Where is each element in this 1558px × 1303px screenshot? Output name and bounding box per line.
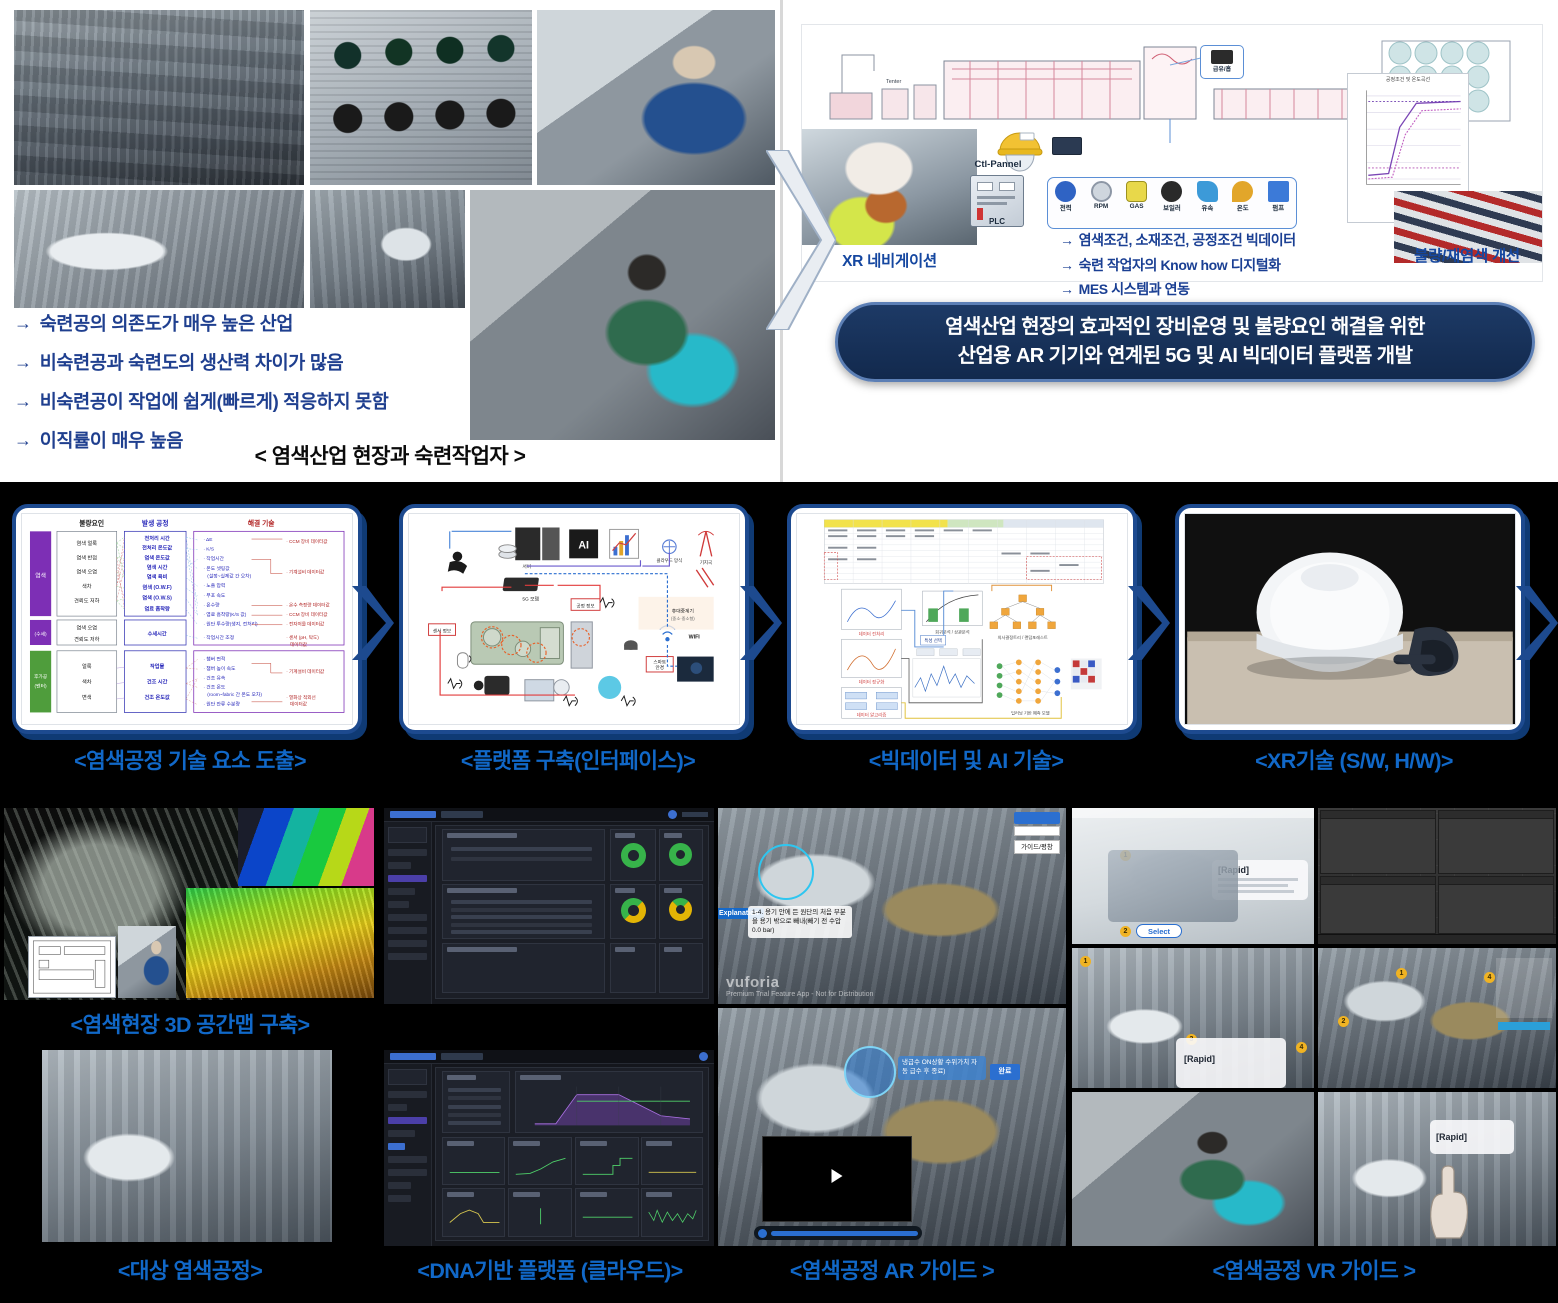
svg-text:· CCM 장비 데이터값: · CCM 장비 데이터값 bbox=[286, 611, 328, 618]
ar-valve-highlight-icon bbox=[844, 1046, 896, 1098]
svg-text:· 건조 온도: · 건조 온도 bbox=[203, 683, 226, 690]
svg-text:데이터값: 데이터값 bbox=[290, 641, 308, 648]
vr-pin-1[interactable]: 1 bbox=[1396, 968, 1407, 979]
arrow-marker-icon: → bbox=[1060, 233, 1074, 248]
floorplan-drawing bbox=[28, 936, 116, 998]
ar-media-controls[interactable] bbox=[754, 1226, 922, 1240]
pipeline-chevron-4-icon bbox=[1516, 586, 1558, 660]
svg-text:· 노즐 압력: · 노즐 압력 bbox=[203, 582, 225, 589]
svg-text:Tenter: Tenter bbox=[886, 79, 901, 85]
vr-pin-4[interactable]: 4 bbox=[1484, 972, 1495, 983]
brand-logo-secondary bbox=[441, 811, 483, 818]
svg-text:· 센서 (pH, 탁도): · 센서 (pH, 탁도) bbox=[286, 634, 319, 641]
power-sensor-icon bbox=[1055, 181, 1076, 202]
svg-text:공정 정보: 공정 정보 bbox=[576, 602, 594, 608]
svg-text:(설정~실제값 간 오차): (설정~실제값 간 오차) bbox=[207, 573, 251, 580]
sidebar-subitem[interactable] bbox=[388, 901, 409, 908]
sidebar-item[interactable] bbox=[388, 940, 427, 947]
problem-bullet: → 비숙련공과 숙련도의 생산력 차이가 많음 bbox=[14, 351, 484, 374]
card-platform-interface[interactable]: 서버 AI bbox=[399, 504, 749, 734]
widget-main-trend-chart[interactable] bbox=[515, 1071, 703, 1133]
svg-text:· 작업시간: · 작업시간 bbox=[203, 555, 224, 562]
svg-text:· 기계설비 데이터값: · 기계설비 데이터값 bbox=[286, 569, 325, 576]
blender-viewport-1[interactable] bbox=[1320, 810, 1436, 874]
sidebar-subitem[interactable] bbox=[388, 862, 411, 869]
sidebar-item[interactable] bbox=[388, 849, 427, 856]
sensor-label: 유속 bbox=[1192, 203, 1222, 212]
widget-donut-4[interactable] bbox=[659, 884, 703, 939]
svg-text:얼룩: 얼룩 bbox=[82, 662, 92, 670]
vr-pin-2[interactable]: 2 bbox=[1338, 1016, 1349, 1027]
svg-text:전처리 온도값: 전처리 온도값 bbox=[142, 544, 172, 552]
vr-field-view-2[interactable]: 1 2 4 bbox=[1318, 948, 1556, 1088]
sensor-label: 펌프 bbox=[1263, 203, 1293, 212]
smart-helmet-and-glasses-photo-icon bbox=[1185, 514, 1515, 724]
photo-dye-vessel bbox=[14, 190, 304, 308]
purpose-line-1: 염색산업 현장의 효과적인 장비운영 및 불량요인 해결을 위한 bbox=[945, 313, 1425, 342]
svg-text:색차: 색차 bbox=[82, 582, 92, 590]
svg-text:색차: 색차 bbox=[82, 678, 92, 686]
callout-label: 급유/흡 bbox=[1201, 64, 1243, 73]
blender-viewport-3[interactable] bbox=[1320, 876, 1436, 934]
svg-text:염색 반점: 염색 반점 bbox=[77, 553, 98, 561]
5g-platform-diagram: 서버 AI bbox=[409, 514, 739, 724]
svg-text:휴대중계기: 휴대중계기 bbox=[672, 607, 694, 614]
temperature-sensor-icon bbox=[1232, 181, 1253, 202]
widget-empty-3[interactable] bbox=[659, 943, 703, 993]
caption-3d-spatial-map: <염색현장 3D 공간맵 구축> bbox=[0, 1008, 380, 1039]
card-process-elements[interactable]: 불량요인 발생 공정 해결 기술 염색 (수세) 후가공 (텐터) bbox=[12, 504, 362, 734]
record-icon[interactable] bbox=[758, 1229, 767, 1238]
sensor-icon-row: 전력 RPM GAS 보일러 유속 온도 bbox=[1047, 177, 1297, 229]
widget-mini-chart-3[interactable] bbox=[575, 1137, 639, 1185]
card-caption-xr-tech: <XR기술 (S/W, H/W)> bbox=[1164, 744, 1544, 775]
vr-side-panel[interactable] bbox=[1496, 958, 1552, 1018]
brand-logo-secondary bbox=[441, 1053, 483, 1060]
sidebar-item-active[interactable] bbox=[388, 875, 427, 882]
sidebar-subitem[interactable] bbox=[388, 1195, 411, 1202]
vr-info-card: [Rapid] bbox=[1176, 1038, 1286, 1088]
dashboard-content bbox=[435, 825, 709, 999]
caption-dna-platform: <DNA기반 플랫폼 (클라우드)> bbox=[370, 1254, 730, 1285]
progress-bar[interactable] bbox=[771, 1231, 918, 1236]
pipeline-chevron-2-icon bbox=[740, 586, 782, 660]
sensor-label: GAS bbox=[1122, 203, 1152, 210]
purpose-line-2: 산업용 AR 기기와 연계된 5G 및 AI 빅데이터 플랫폼 개발 bbox=[958, 342, 1413, 371]
vr-hand-interaction-view[interactable]: [Rapid] bbox=[1318, 1092, 1556, 1246]
blender-timeline[interactable] bbox=[1318, 934, 1556, 944]
svg-text:안경: 안경 bbox=[655, 664, 663, 670]
dashboard-overview-screen[interactable] bbox=[384, 808, 714, 1004]
vuforia-watermark: vuforia Premium Trial Feature App - Not … bbox=[726, 974, 873, 998]
tablet-device-icon bbox=[1052, 137, 1082, 155]
sidebar-item[interactable] bbox=[388, 914, 427, 921]
brand-logo bbox=[390, 1053, 436, 1060]
rpm-sensor-icon bbox=[1091, 181, 1112, 202]
blender-viewport-4[interactable] bbox=[1438, 876, 1554, 934]
card-xr-tech[interactable] bbox=[1175, 504, 1525, 734]
technology-pipeline-section: 불량요인 발생 공정 해결 기술 염색 (수세) 후가공 (텐터) bbox=[0, 494, 1558, 802]
pipeline-chevron-1-icon bbox=[352, 586, 394, 660]
widget-mini-chart-6[interactable] bbox=[508, 1188, 572, 1236]
platform-architecture-diagram: 서버 AI bbox=[408, 513, 740, 725]
arrow-marker-icon: → bbox=[14, 351, 32, 374]
svg-text:염료 흡착량: 염료 흡착량 bbox=[144, 604, 170, 612]
sidebar-site-selector[interactable] bbox=[388, 827, 427, 843]
widget-empty-1[interactable] bbox=[442, 943, 605, 993]
svg-text:· 열화상 적외선: · 열화상 적외선 bbox=[286, 694, 316, 701]
solution-diagram-panel: Tenter Drum Dryer 급유/흡 XR 네비게이션 bbox=[780, 0, 1558, 482]
vr-pin-4[interactable]: 4 bbox=[1296, 1042, 1307, 1053]
vuforia-watermark-sub: Premium Trial Feature App - Not for Dist… bbox=[726, 991, 873, 998]
problem-bullet-text: 비숙련공이 작업에 쉽게(빠르게) 적응하지 못함 bbox=[40, 390, 389, 413]
svg-text:· 원단 잔류 수분량: · 원단 잔류 수분량 bbox=[203, 701, 240, 708]
svg-text:견뢰도 저하: 견뢰도 저하 bbox=[74, 635, 100, 643]
sensor-item: 전력 bbox=[1051, 181, 1081, 212]
sensor-label: 온도 bbox=[1228, 203, 1258, 212]
svg-text:5G 모뎀: 5G 모뎀 bbox=[522, 596, 539, 603]
svg-text:· ΔE: · ΔE bbox=[203, 537, 212, 543]
svg-text:발생 공정: 발생 공정 bbox=[142, 519, 169, 528]
svg-text:특성 선택: 특성 선택 bbox=[924, 637, 942, 644]
sensor-label: 보일러 bbox=[1157, 203, 1187, 212]
sidebar-item[interactable] bbox=[388, 1156, 427, 1163]
svg-text:· 건조 유속: · 건조 유속 bbox=[203, 675, 226, 682]
ar-guide-view-top[interactable]: Explanation 1-4. 용기 안에 든 원단의 처음 부분을 용기 밖… bbox=[718, 808, 1066, 1004]
vr-scene-overview[interactable]: [Rapid] 1 2 Select bbox=[1072, 808, 1314, 944]
arrow-marker-icon: → bbox=[14, 390, 32, 413]
svg-text:회귀분석 / 상관분석: 회귀분석 / 상관분석 bbox=[935, 628, 970, 635]
benefit-text: 염색조건, 소재조건, 공정조건 빅데이터 bbox=[1079, 233, 1296, 248]
svg-text:· 기계설비 데이터값: · 기계설비 데이터값 bbox=[286, 668, 325, 675]
benefit-text: 숙련 작업자의 Know how 디지털화 bbox=[1079, 258, 1281, 273]
photo-heatmap-pointcloud bbox=[186, 888, 374, 998]
widget-table-top[interactable] bbox=[442, 829, 605, 881]
card-caption-bigdata-ai: <빅데이터 및 AI 기술> bbox=[776, 744, 1156, 775]
widget-mini-chart-7[interactable] bbox=[575, 1188, 639, 1236]
donut-chart-green bbox=[621, 843, 646, 868]
svg-text:· 부포 속도: · 부포 속도 bbox=[203, 592, 226, 599]
vr-field-view-1[interactable]: 1 3 4 [Rapid] bbox=[1072, 948, 1314, 1088]
svg-text:WIFI: WIFI bbox=[689, 634, 701, 640]
svg-text:불량요인: 불량요인 bbox=[79, 519, 104, 528]
svg-text:전처리 시간: 전처리 시간 bbox=[144, 534, 170, 542]
blender-viewport-2[interactable] bbox=[1438, 810, 1554, 874]
dashboard-content bbox=[435, 1067, 709, 1241]
caption-ar-guide: <염색공정 AR 가이드 > bbox=[716, 1254, 1068, 1285]
vr-field-view-3[interactable] bbox=[1072, 1092, 1314, 1246]
sensor-item: 보일러 bbox=[1157, 181, 1187, 212]
card-bigdata-ai[interactable]: 데이터 전처리 데이터 정규화 데이터 알고리즘 회귀분석 / 상관분석 bbox=[787, 504, 1137, 734]
problem-bullet: → 숙련공의 의존도가 매우 높은 산업 bbox=[14, 312, 484, 335]
svg-text:· 온수 측정량 데이터값: · 온수 측정량 데이터값 bbox=[286, 601, 330, 608]
play-icon[interactable] bbox=[832, 1169, 843, 1183]
section-transition-arrow-icon bbox=[766, 150, 836, 330]
pump-sensor-icon bbox=[1268, 181, 1289, 202]
svg-text:· K/S: · K/S bbox=[203, 547, 214, 553]
svg-text:건조 온도값: 건조 온도값 bbox=[144, 693, 170, 701]
user-avatar[interactable] bbox=[668, 810, 677, 819]
svg-text:염색 (O.W.S): 염색 (O.W.S) bbox=[142, 594, 172, 602]
photo-control-panel-switches bbox=[310, 10, 532, 185]
svg-text:· CCM 장비 데이터값: · CCM 장비 데이터값 bbox=[286, 538, 328, 545]
xr-hardware-photo bbox=[1184, 513, 1516, 725]
sidebar-site-selector[interactable] bbox=[388, 1069, 427, 1085]
sensor-item: 온도 bbox=[1228, 181, 1258, 212]
base-station-icon: 기지국 bbox=[698, 531, 713, 566]
data-table-and-models: 데이터 전처리 데이터 정규화 데이터 알고리즘 회귀분석 / 상관분석 bbox=[797, 514, 1127, 724]
svg-text:(중소·중소형): (중소·중소형) bbox=[671, 615, 695, 621]
vr-toolbar[interactable] bbox=[1072, 808, 1314, 818]
ar-instruction-tooltip: 1-4. 용기 안에 든 원단의 처음 부분을 용기 밖으로 빼내(빼기 전 수… bbox=[748, 906, 852, 938]
caption-vr-guide: <염색공정 VR 가이드 > bbox=[1072, 1254, 1556, 1285]
sidebar-item[interactable] bbox=[388, 953, 427, 960]
widget-donut-3[interactable] bbox=[610, 884, 656, 939]
svg-text:데이터값: 데이터값 bbox=[290, 701, 308, 708]
svg-text:· 챔버 면적: · 챔버 면적 bbox=[203, 655, 225, 662]
hand-pointer-icon bbox=[1410, 1164, 1480, 1240]
vr-machine-label: [Rapid] bbox=[1436, 1132, 1467, 1142]
process-element-diagram: 불량요인 발생 공정 해결 기술 염색 (수세) 후가공 (텐터) bbox=[21, 513, 353, 725]
svg-text:의사결정트리 / 랜덤포레스트: 의사결정트리 / 랜덤포레스트 bbox=[998, 634, 1048, 641]
svg-text:염색 시간: 염색 시간 bbox=[147, 563, 168, 571]
widget-mini-chart-8[interactable] bbox=[641, 1188, 702, 1236]
svg-text:염색 욕비: 염색 욕비 bbox=[147, 573, 168, 581]
svg-text:후가공: 후가공 bbox=[34, 673, 48, 680]
svg-text:염색 얼룩: 염색 얼룩 bbox=[77, 539, 98, 547]
vr-info-card: [Rapid] bbox=[1430, 1120, 1514, 1154]
photo-target-dyeing-process bbox=[42, 1050, 332, 1242]
photo-dyeing-machines bbox=[14, 10, 304, 185]
donut-chart-yellow-green bbox=[621, 898, 646, 923]
svg-text:데이터 정규화: 데이터 정규화 bbox=[859, 679, 885, 686]
svg-text:염색 온도값: 염색 온도값 bbox=[144, 553, 170, 561]
benefit-item: → MES 시스템과 연동 bbox=[1060, 282, 1530, 297]
vr-select-button[interactable]: Select bbox=[1136, 924, 1182, 938]
svg-text:염색 오염: 염색 오염 bbox=[77, 568, 98, 576]
card-caption-process-elements: <염색공정 기술 요소 도출> bbox=[0, 744, 380, 775]
sensor-label: RPM bbox=[1086, 203, 1116, 210]
server-icon: 서버 bbox=[499, 527, 560, 569]
widget-donut-2[interactable] bbox=[659, 829, 703, 881]
user-avatar[interactable] bbox=[699, 1052, 708, 1061]
machine-detail-callout: 급유/흡 bbox=[1200, 45, 1244, 79]
widget-empty-2[interactable] bbox=[610, 943, 656, 993]
sidebar-item[interactable] bbox=[388, 927, 427, 934]
ctl-panel-caption: Ctl-Pannel bbox=[952, 159, 1044, 170]
sidebar-subitem[interactable] bbox=[388, 1130, 415, 1137]
svg-text:데이터 알고리즘: 데이터 알고리즘 bbox=[857, 711, 887, 718]
svg-text:· 온도 셋팅값: · 온도 셋팅값 bbox=[203, 565, 230, 572]
sensor-item: GAS bbox=[1122, 181, 1152, 210]
photo-lidar-scanner-operator bbox=[118, 926, 176, 998]
user-name-label bbox=[682, 812, 708, 817]
widget-recipe-table[interactable] bbox=[442, 1071, 510, 1133]
flow-sensor-icon bbox=[1197, 181, 1218, 202]
svg-text:딥러닝 기반 예측 모델: 딥러닝 기반 예측 모델 bbox=[1011, 709, 1050, 716]
sensor-item: 유속 bbox=[1192, 181, 1222, 212]
svg-text:변색: 변색 bbox=[82, 693, 92, 701]
top-section: → 숙련공의 의존도가 매우 높은 산업 → 비숙련공과 숙련도의 생산력 차이… bbox=[0, 0, 1558, 488]
svg-text:염색 오염: 염색 오염 bbox=[77, 624, 98, 632]
photo-dye-tank-room bbox=[310, 190, 465, 308]
sidebar-item-active[interactable] bbox=[388, 1117, 427, 1124]
defect-to-solution-mapping-diagram: 불량요인 발생 공정 해결 기술 염색 (수세) 후가공 (텐터) bbox=[22, 514, 352, 724]
vr-machine-label: [Rapid] bbox=[1184, 1054, 1215, 1064]
svg-text:· 챔버 높이 속도: · 챔버 높이 속도 bbox=[203, 665, 236, 672]
sidebar-subitem[interactable] bbox=[388, 1182, 411, 1189]
svg-text:(room~fabric 간 온도 오차): (room~fabric 간 온도 오차) bbox=[207, 691, 262, 698]
svg-text:염색 (O.W.F): 염색 (O.W.F) bbox=[143, 583, 172, 591]
widget-mini-chart-4[interactable] bbox=[641, 1137, 702, 1185]
top-left-caption: < 염색산업 현장과 숙련작업자 > bbox=[0, 440, 780, 470]
ar-done-button[interactable]: 완료 bbox=[990, 1064, 1020, 1080]
vr-action-button[interactable] bbox=[1498, 1022, 1550, 1030]
svg-text:건조 시간: 건조 시간 bbox=[147, 678, 168, 686]
arrow-marker-icon: → bbox=[14, 312, 32, 335]
widget-mini-chart-5[interactable] bbox=[442, 1188, 506, 1236]
svg-text:· 전자저울 데이터값: · 전자저울 데이터값 bbox=[286, 621, 325, 628]
project-purpose-banner: 염색산업 현장의 효과적인 장비운영 및 불량요인 해결을 위한 산업용 AR … bbox=[835, 302, 1535, 382]
dashboard-titlebar bbox=[384, 808, 714, 822]
donut-chart-yellow bbox=[669, 898, 692, 921]
sidebar-item[interactable] bbox=[388, 1091, 427, 1098]
brand-logo bbox=[390, 811, 436, 818]
sidebar-subitem[interactable] bbox=[388, 1104, 407, 1111]
svg-text:· 염료 흡착량(K/S 값): · 염료 흡착량(K/S 값) bbox=[203, 611, 246, 618]
ar-status-bar bbox=[1014, 812, 1060, 824]
svg-text:· 원단 투수량(생지, 전처리): · 원단 투수량(생지, 전처리) bbox=[203, 621, 258, 628]
sensor-item: 펌프 bbox=[1263, 181, 1293, 212]
sensor-label: 전력 bbox=[1051, 203, 1081, 212]
ar-guide-button[interactable]: 가이드/평창 bbox=[1014, 840, 1060, 854]
svg-text:· 온수량: · 온수량 bbox=[203, 601, 220, 608]
problem-bullet-text: 비숙련공과 숙련도의 생산력 차이가 많음 bbox=[40, 351, 344, 374]
svg-text:(텐터): (텐터) bbox=[35, 682, 47, 689]
svg-text:(수세): (수세) bbox=[35, 630, 47, 637]
ar-info-field bbox=[1014, 826, 1060, 836]
widget-table-mid[interactable] bbox=[442, 884, 605, 939]
blender-modelling-views[interactable] bbox=[1318, 808, 1556, 944]
svg-text:센서 정보: 센서 정보 bbox=[433, 627, 451, 634]
field-photo-collage-panel: → 숙련공의 의존도가 매우 높은 산업 → 비숙련공과 숙련도의 생산력 차이… bbox=[0, 0, 780, 482]
sidebar-item[interactable] bbox=[388, 1169, 427, 1176]
dashboard-sidebar[interactable] bbox=[384, 822, 432, 1004]
donut-chart-green-2 bbox=[669, 843, 692, 866]
dashboard-trend-screen[interactable] bbox=[384, 1050, 714, 1246]
ar-highlight-circle bbox=[758, 844, 814, 900]
operator-icon bbox=[448, 552, 467, 574]
vr-pin-2[interactable]: 2 bbox=[1120, 926, 1131, 937]
results-gallery-section: <염색현장 3D 공간맵 구축> <대상 염색공정> bbox=[0, 802, 1558, 1303]
svg-text:해결 기술: 해결 기술 bbox=[248, 519, 275, 528]
svg-text:작업물: 작업물 bbox=[150, 662, 165, 670]
chart-title: 공정조건 및 온도곡선 bbox=[1348, 74, 1468, 83]
caption-target-dyeing-process: <대상 염색공정> bbox=[0, 1254, 380, 1285]
arrow-marker-icon: → bbox=[1060, 258, 1074, 273]
plc-label: PLC bbox=[970, 217, 1024, 226]
svg-text:견뢰도 저하: 견뢰도 저하 bbox=[74, 597, 100, 605]
boiler-sensor-icon bbox=[1161, 181, 1182, 202]
widget-mini-chart-2[interactable] bbox=[508, 1137, 572, 1185]
vr-machine-model bbox=[1108, 850, 1238, 922]
ar-overlay-label: 냉급수 ON상황 수위가치 자동 급수 후 종료) bbox=[898, 1056, 986, 1080]
widget-donut-1[interactable] bbox=[610, 829, 656, 881]
card-caption-platform-interface: <플랫폼 구축(인터페이스)> bbox=[388, 744, 768, 775]
problem-bullet-text: 숙련공의 의존도가 매우 높은 산업 bbox=[40, 312, 293, 335]
svg-text:수세시간: 수세시간 bbox=[148, 629, 167, 637]
photo-worker-with-bucket bbox=[537, 10, 775, 185]
vr-pin-1[interactable]: 1 bbox=[1080, 956, 1091, 967]
gas-sensor-icon bbox=[1126, 181, 1147, 202]
dashboard-sidebar[interactable] bbox=[384, 1064, 432, 1246]
ar-guide-view-bottom[interactable]: 냉급수 ON상황 수위가치 자동 급수 후 종료) 완료 bbox=[718, 1008, 1066, 1246]
svg-text:기지국: 기지국 bbox=[700, 559, 712, 566]
ar-video-preview[interactable] bbox=[762, 1136, 912, 1222]
defect-improvement-label: 불량/재염색 개선 bbox=[1393, 244, 1541, 266]
svg-text:염색: 염색 bbox=[35, 572, 46, 580]
photo-operator-at-machine bbox=[470, 190, 775, 440]
sidebar-subitem-selected[interactable] bbox=[388, 1143, 405, 1150]
benefit-text: MES 시스템과 연동 bbox=[1079, 282, 1190, 297]
dashboard-titlebar bbox=[384, 1050, 714, 1064]
widget-mini-chart-1[interactable] bbox=[442, 1137, 506, 1185]
arrow-marker-icon: → bbox=[1060, 282, 1074, 297]
bigdata-ai-diagram: 데이터 전처리 데이터 정규화 데이터 알고리즘 회귀분석 / 상관분석 bbox=[796, 513, 1128, 725]
photo-cfd-simulation bbox=[238, 808, 374, 886]
sensor-item: RPM bbox=[1086, 181, 1116, 210]
problem-bullet: → 비숙련공이 작업에 쉽게(빠르게) 적응하지 못함 bbox=[14, 390, 484, 413]
svg-text:데이터 전처리: 데이터 전처리 bbox=[859, 630, 885, 637]
svg-text:· 작업시간 조정: · 작업시간 조정 bbox=[203, 634, 234, 641]
svg-text:AI: AI bbox=[578, 540, 589, 552]
sidebar-subitem[interactable] bbox=[388, 888, 415, 895]
pipeline-chevron-3-icon bbox=[1128, 586, 1170, 660]
